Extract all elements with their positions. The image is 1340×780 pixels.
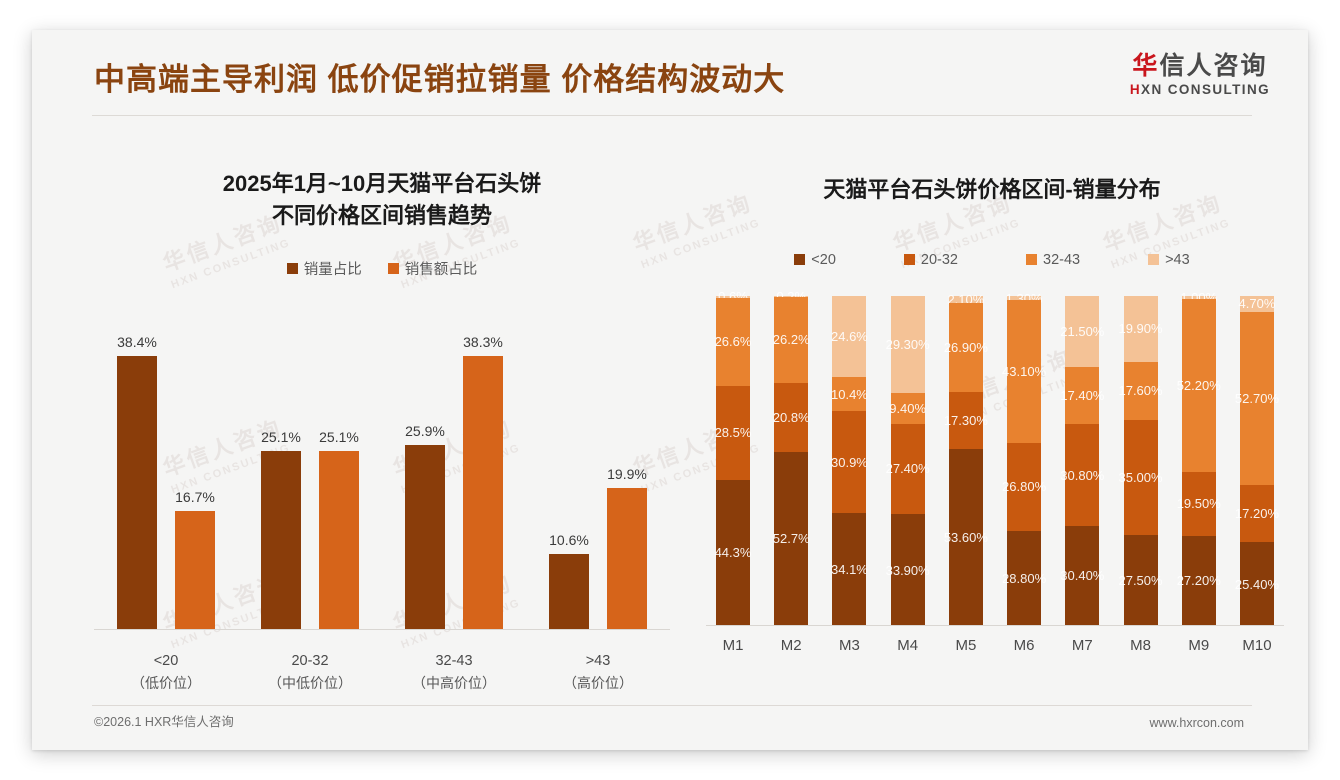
left-chart-title-line1: 2025年1月~10月天猫平台石头饼 xyxy=(223,171,542,196)
right-chart-panel: 天猫平台石头饼价格区间-销量分布 <2020-3232-43>43 0.6%26… xyxy=(692,130,1292,710)
legend-item[interactable]: <20 xyxy=(794,252,836,268)
stacked-bar-segment[interactable]: 28.80% xyxy=(1007,531,1041,626)
bar-column: 38.3% xyxy=(463,330,503,630)
stacked-bar-segment[interactable]: 34.1% xyxy=(832,513,866,626)
segment-value-label: 52.20% xyxy=(1177,378,1221,393)
bar-column: 38.4% xyxy=(117,330,157,630)
stacked-bar-segment[interactable]: 20.8% xyxy=(774,383,808,452)
segment-value-label: 20.8% xyxy=(773,410,810,425)
bar-group: 25.9%38.3% xyxy=(395,330,513,630)
legend-swatch-icon xyxy=(287,263,298,274)
x-tick-main: 32-43 xyxy=(435,653,472,669)
right-chart-legend: <2020-3232-43>43 xyxy=(692,252,1292,268)
stacked-bar-segment[interactable]: 52.20% xyxy=(1182,299,1216,471)
x-tick-label: M3 xyxy=(822,637,876,654)
segment-value-label: 30.9% xyxy=(831,455,868,470)
bar-column: 25.1% xyxy=(319,330,359,630)
segment-value-label: 28.5% xyxy=(715,425,752,440)
legend-item[interactable]: 销售额占比 xyxy=(388,258,478,279)
x-tick-sub: （中高价位） xyxy=(395,673,513,694)
x-tick-main: >43 xyxy=(586,653,611,669)
bar-group: 25.1%25.1% xyxy=(251,330,369,630)
stacked-bar-column[interactable]: 0.2%26.2%20.8%52.7% xyxy=(764,296,818,626)
legend-item[interactable]: >43 xyxy=(1148,252,1190,268)
x-tick-main: 20-32 xyxy=(291,653,328,669)
bar-column: 10.6% xyxy=(549,330,589,630)
segment-value-label: 25.40% xyxy=(1235,577,1279,592)
stacked-bar-segment[interactable]: 26.80% xyxy=(1007,443,1041,531)
segment-value-label: 29.30% xyxy=(886,337,930,352)
stacked-bar-segment[interactable]: 44.3% xyxy=(716,480,750,626)
x-tick-label: >43（高价位） xyxy=(539,651,657,694)
x-tick-label: 20-32（中低价位） xyxy=(251,651,369,694)
segment-value-label: 27.20% xyxy=(1177,573,1221,588)
bar-value-label: 38.4% xyxy=(117,334,157,350)
bar-group: 38.4%16.7% xyxy=(107,330,225,630)
segment-value-label: 30.80% xyxy=(1060,468,1104,483)
stacked-bar-segment[interactable]: 19.90% xyxy=(1124,296,1158,362)
segment-value-label: 17.40% xyxy=(1060,388,1104,403)
left-chart-title: 2025年1月~10月天猫平台石头饼 不同价格区间销售趋势 xyxy=(72,130,692,232)
stacked-bar-column[interactable]: 29.30%9.40%27.40%33.90% xyxy=(881,296,935,626)
right-chart-axis-line xyxy=(706,625,1284,626)
company-logo: 华信人咨询 HXN CONSULTING xyxy=(1130,52,1270,97)
stacked-bar-segment[interactable]: 30.9% xyxy=(832,411,866,513)
stacked-bar-segment[interactable]: 53.60% xyxy=(949,449,983,626)
segment-value-label: 33.90% xyxy=(886,563,930,578)
stacked-bar-column[interactable]: 24.6%10.4%30.9%34.1% xyxy=(822,296,876,626)
right-chart-plot: 0.6%26.6%28.5%44.3%0.2%26.2%20.8%52.7%24… xyxy=(706,326,1284,656)
segment-value-label: 17.30% xyxy=(944,413,988,428)
segment-value-label: 4.70% xyxy=(1239,296,1276,311)
stacked-bar-segment[interactable]: 52.70% xyxy=(1240,312,1274,486)
stacked-bar-segment[interactable]: 17.30% xyxy=(949,392,983,449)
stacked-bar-segment[interactable]: 27.20% xyxy=(1182,536,1216,626)
bar[interactable] xyxy=(261,451,301,630)
right-chart-x-ticks: M1M2M3M4M5M6M7M8M9M10 xyxy=(706,637,1284,654)
slide-header: 中高端主导利润 低价促销拉销量 价格结构波动大 华信人咨询 HXN CONSUL… xyxy=(32,30,1308,122)
segment-value-label: 10.4% xyxy=(831,387,868,402)
legend-swatch-icon xyxy=(1026,254,1037,265)
bar-value-label: 25.1% xyxy=(319,429,359,445)
stacked-bar-segment[interactable]: 27.50% xyxy=(1124,535,1158,626)
segment-value-label: 9.40% xyxy=(889,401,926,416)
segment-value-label: 52.70% xyxy=(1235,391,1279,406)
stacked-bar-segment[interactable]: 9.40% xyxy=(891,393,925,424)
segment-value-label: 35.00% xyxy=(1118,470,1162,485)
segment-value-label: 21.50% xyxy=(1060,324,1104,339)
segment-value-label: 44.3% xyxy=(715,545,752,560)
bar-column: 25.9% xyxy=(405,330,445,630)
footer-website: www.hxrcon.com xyxy=(1150,716,1244,730)
segment-value-label: 26.2% xyxy=(773,332,810,347)
segment-value-label: 19.90% xyxy=(1118,321,1162,336)
bar-group: 10.6%19.9% xyxy=(539,330,657,630)
logo-chinese: 华信人咨询 xyxy=(1130,52,1270,80)
stacked-bar-column[interactable]: 1.30%43.10%26.80%28.80% xyxy=(997,296,1051,626)
legend-label: 销量占比 xyxy=(304,258,362,279)
stacked-bar-segment[interactable]: 27.40% xyxy=(891,424,925,514)
legend-swatch-icon xyxy=(388,263,399,274)
legend-swatch-icon xyxy=(1148,254,1159,265)
segment-value-label: 30.40% xyxy=(1060,568,1104,583)
slide-canvas: 中高端主导利润 低价促销拉销量 价格结构波动大 华信人咨询 HXN CONSUL… xyxy=(32,30,1308,750)
segment-value-label: 26.90% xyxy=(944,340,988,355)
left-chart-axis-line xyxy=(94,629,670,630)
stacked-bar-column[interactable]: 4.70%52.70%17.20%25.40% xyxy=(1230,296,1284,626)
footer-divider xyxy=(92,705,1252,706)
x-tick-sub: （低价位） xyxy=(107,673,225,694)
segment-value-label: 52.7% xyxy=(773,531,810,546)
stacked-bar-segment[interactable]: 25.40% xyxy=(1240,542,1274,626)
bar-column: 25.1% xyxy=(261,330,301,630)
segment-value-label: 24.6% xyxy=(831,329,868,344)
stacked-bar-segment[interactable]: 2.10% xyxy=(949,296,983,303)
x-tick-label: M6 xyxy=(997,637,1051,654)
stacked-bar-segment[interactable]: 30.40% xyxy=(1065,526,1099,626)
x-tick-label: M8 xyxy=(1114,637,1168,654)
stacked-bar-segment[interactable]: 4.70% xyxy=(1240,296,1274,312)
bar[interactable] xyxy=(319,451,359,630)
bar[interactable] xyxy=(117,356,157,630)
bar-column: 19.9% xyxy=(607,330,647,630)
stacked-bar-column[interactable]: 1.00%52.20%19.50%27.20% xyxy=(1172,296,1226,626)
x-tick-label: M10 xyxy=(1230,637,1284,654)
stacked-bar-segment[interactable]: 29.30% xyxy=(891,296,925,393)
legend-label: 销售额占比 xyxy=(405,258,478,279)
segment-value-label: 34.1% xyxy=(831,562,868,577)
stacked-bar-segment[interactable]: 19.50% xyxy=(1182,472,1216,536)
left-chart-panel: 2025年1月~10月天猫平台石头饼 不同价格区间销售趋势 销量占比销售额占比 … xyxy=(72,130,692,710)
legend-label: 20-32 xyxy=(921,252,958,268)
x-tick-label: M1 xyxy=(706,637,760,654)
stacked-bar-segment[interactable]: 17.40% xyxy=(1065,367,1099,424)
logo-en-red: H xyxy=(1130,82,1141,97)
legend-swatch-icon xyxy=(904,254,915,265)
bar-value-label: 38.3% xyxy=(463,334,503,350)
stacked-bar-segment[interactable]: 43.10% xyxy=(1007,300,1041,442)
x-tick-label: M5 xyxy=(939,637,993,654)
bar-value-label: 19.9% xyxy=(607,466,647,482)
segment-value-label: 19.50% xyxy=(1177,496,1221,511)
left-chart-legend: 销量占比销售额占比 xyxy=(72,258,692,279)
legend-label: <20 xyxy=(811,252,836,268)
stacked-bar-segment[interactable]: 33.90% xyxy=(891,514,925,626)
segment-value-label: 26.6% xyxy=(715,334,752,349)
segment-value-label: 43.10% xyxy=(1002,364,1046,379)
stacked-bar-segment[interactable]: 24.6% xyxy=(832,296,866,377)
legend-item[interactable]: 销量占比 xyxy=(287,258,362,279)
stacked-bar-segment[interactable]: 28.5% xyxy=(716,386,750,480)
stacked-bar-segment[interactable]: 10.4% xyxy=(832,377,866,411)
segment-value-label: 27.40% xyxy=(886,461,930,476)
stacked-bar-segment[interactable]: 17.20% xyxy=(1240,485,1274,542)
segment-value-label: 17.20% xyxy=(1235,506,1279,521)
left-chart-x-ticks: <20（低价位）20-32（中低价位）32-43（中高价位）>43（高价位） xyxy=(94,651,670,694)
stacked-bar-segment[interactable]: 26.6% xyxy=(716,298,750,386)
x-tick-sub: （高价位） xyxy=(539,673,657,694)
header-divider xyxy=(92,115,1252,116)
segment-value-label: 17.60% xyxy=(1118,383,1162,398)
logo-english: HXN CONSULTING xyxy=(1130,83,1270,97)
x-tick-label: <20（低价位） xyxy=(107,651,225,694)
bar-value-label: 10.6% xyxy=(549,532,589,548)
logo-en-dark: XN CONSULTING xyxy=(1141,82,1270,97)
stacked-bar-segment[interactable]: 26.90% xyxy=(949,303,983,392)
left-chart-title-line2: 不同价格区间销售趋势 xyxy=(272,203,492,228)
legend-swatch-icon xyxy=(794,254,805,265)
x-tick-label: 32-43（中高价位） xyxy=(395,651,513,694)
bar[interactable] xyxy=(175,511,215,630)
stacked-bar-segment[interactable]: 21.50% xyxy=(1065,296,1099,367)
right-chart-title: 天猫平台石头饼价格区间-销量分布 xyxy=(692,130,1292,206)
x-tick-label: M4 xyxy=(881,637,935,654)
bar-value-label: 25.9% xyxy=(405,423,445,439)
bar-value-label: 25.1% xyxy=(261,429,301,445)
stacked-bar-segment[interactable]: 52.7% xyxy=(774,452,808,626)
x-tick-label: M2 xyxy=(764,637,818,654)
bar[interactable] xyxy=(405,445,445,630)
x-tick-main: <20 xyxy=(154,653,179,669)
segment-value-label: 53.60% xyxy=(944,530,988,545)
stacked-bar-segment[interactable]: 30.80% xyxy=(1065,424,1099,526)
segment-value-label: 28.80% xyxy=(1002,571,1046,586)
x-tick-label: M9 xyxy=(1172,637,1226,654)
page-title: 中高端主导利润 低价促销拉销量 价格结构波动大 xyxy=(94,54,785,99)
bar[interactable] xyxy=(607,488,647,630)
stacked-bar-column[interactable]: 2.10%26.90%17.30%53.60% xyxy=(939,296,993,626)
stacked-bar-column[interactable]: 21.50%17.40%30.80%30.40% xyxy=(1055,296,1109,626)
segment-value-label: 26.80% xyxy=(1002,479,1046,494)
footer-copyright: ©2026.1 HXR华信人咨询 xyxy=(94,711,234,730)
stacked-bar-column[interactable]: 0.6%26.6%28.5%44.3% xyxy=(706,296,760,626)
legend-label: 32-43 xyxy=(1043,252,1080,268)
legend-item[interactable]: 32-43 xyxy=(1026,252,1080,268)
legend-item[interactable]: 20-32 xyxy=(904,252,958,268)
x-tick-label: M7 xyxy=(1055,637,1109,654)
logo-cn-red: 华 xyxy=(1132,52,1159,80)
x-tick-sub: （中低价位） xyxy=(251,673,369,694)
logo-cn-dark: 信人咨询 xyxy=(1159,52,1267,80)
bar[interactable] xyxy=(463,356,503,630)
stacked-bar-segment[interactable]: 35.00% xyxy=(1124,420,1158,536)
stacked-bar-segment[interactable]: 26.2% xyxy=(774,297,808,383)
segment-value-label: 27.50% xyxy=(1118,573,1162,588)
left-chart-plot: 38.4%16.7%25.1%25.1%25.9%38.3%10.6%19.9%… xyxy=(94,330,670,660)
bar[interactable] xyxy=(549,554,589,630)
bar-column: 16.7% xyxy=(175,330,215,630)
bar-value-label: 16.7% xyxy=(175,489,215,505)
legend-label: >43 xyxy=(1165,252,1190,268)
stacked-bar-segment[interactable]: 17.60% xyxy=(1124,362,1158,420)
stacked-bar-column[interactable]: 19.90%17.60%35.00%27.50% xyxy=(1114,296,1168,626)
